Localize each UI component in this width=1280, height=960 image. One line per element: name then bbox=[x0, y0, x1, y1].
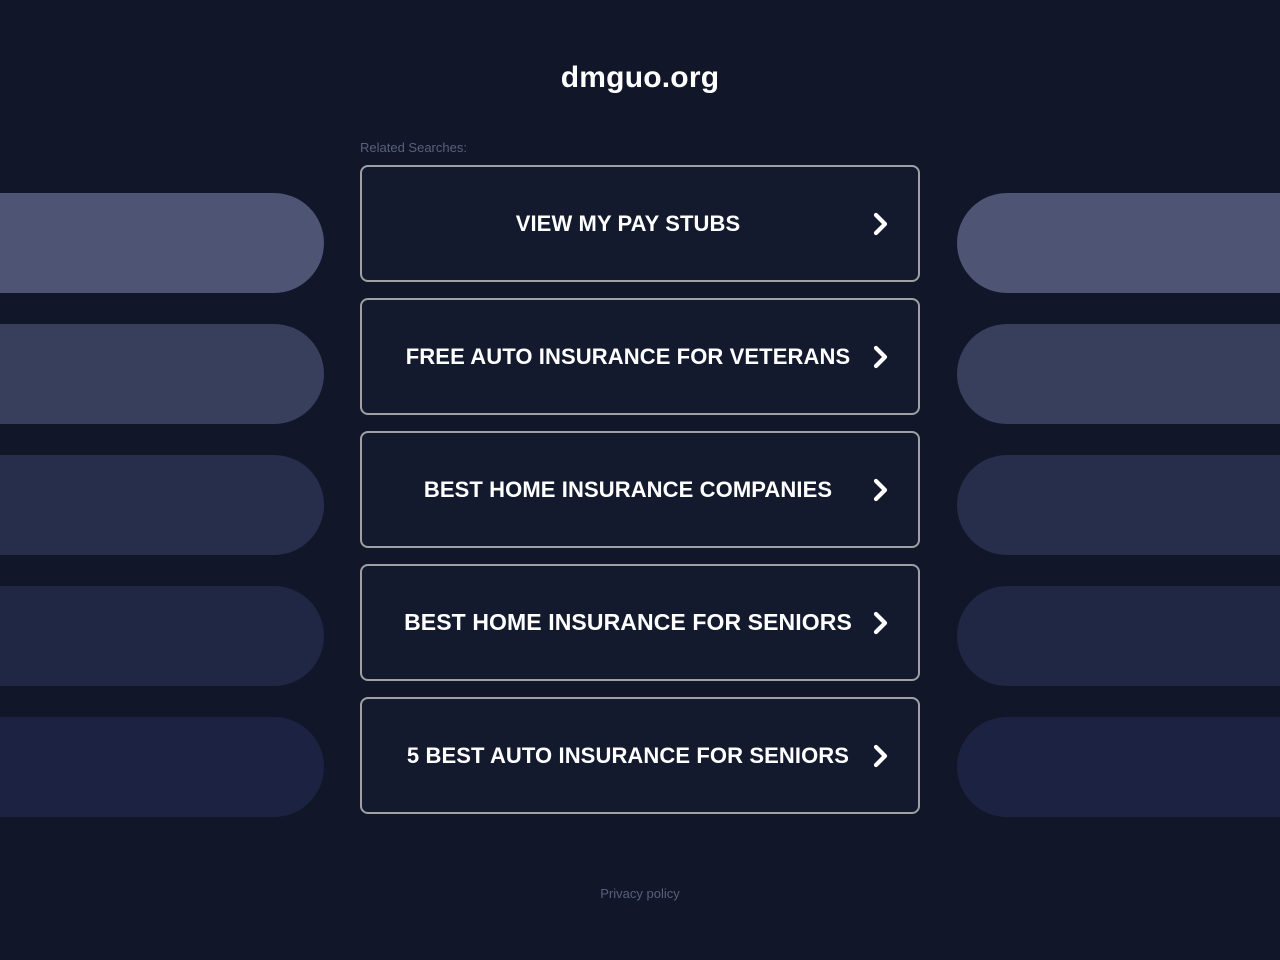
related-searches-section: Related Searches: bbox=[360, 96, 920, 165]
footer: Privacy policy bbox=[0, 885, 1280, 903]
related-search-item-2[interactable]: FREE AUTO INSURANCE FOR VETERANS bbox=[360, 298, 920, 415]
chevron-right-icon bbox=[870, 610, 892, 636]
related-search-item-4[interactable]: BEST HOME INSURANCE FOR SENIORS bbox=[360, 564, 920, 681]
related-search-label: VIEW MY PAY STUBS bbox=[516, 209, 741, 238]
chevron-right-icon bbox=[870, 477, 892, 503]
related-search-label: BEST HOME INSURANCE FOR SENIORS bbox=[404, 608, 852, 637]
chevron-right-icon bbox=[870, 344, 892, 370]
related-search-label: BEST HOME INSURANCE COMPANIES bbox=[424, 475, 832, 504]
page-title: dmguo.org bbox=[0, 0, 1280, 96]
related-searches-list: VIEW MY PAY STUBS FREE AUTO INSURANCE FO… bbox=[360, 165, 920, 814]
privacy-policy-link[interactable]: Privacy policy bbox=[600, 886, 679, 901]
chevron-right-icon bbox=[870, 211, 892, 237]
related-search-label: 5 BEST AUTO INSURANCE FOR SENIORS bbox=[407, 741, 849, 770]
related-search-label: FREE AUTO INSURANCE FOR VETERANS bbox=[406, 342, 850, 371]
related-searches-label: Related Searches: bbox=[360, 140, 920, 165]
chevron-right-icon bbox=[870, 743, 892, 769]
page-root: dmguo.org Related Searches: VIEW MY PAY … bbox=[0, 0, 1280, 960]
related-search-item-3[interactable]: BEST HOME INSURANCE COMPANIES bbox=[360, 431, 920, 548]
related-search-item-5[interactable]: 5 BEST AUTO INSURANCE FOR SENIORS bbox=[360, 697, 920, 814]
related-search-item-1[interactable]: VIEW MY PAY STUBS bbox=[360, 165, 920, 282]
